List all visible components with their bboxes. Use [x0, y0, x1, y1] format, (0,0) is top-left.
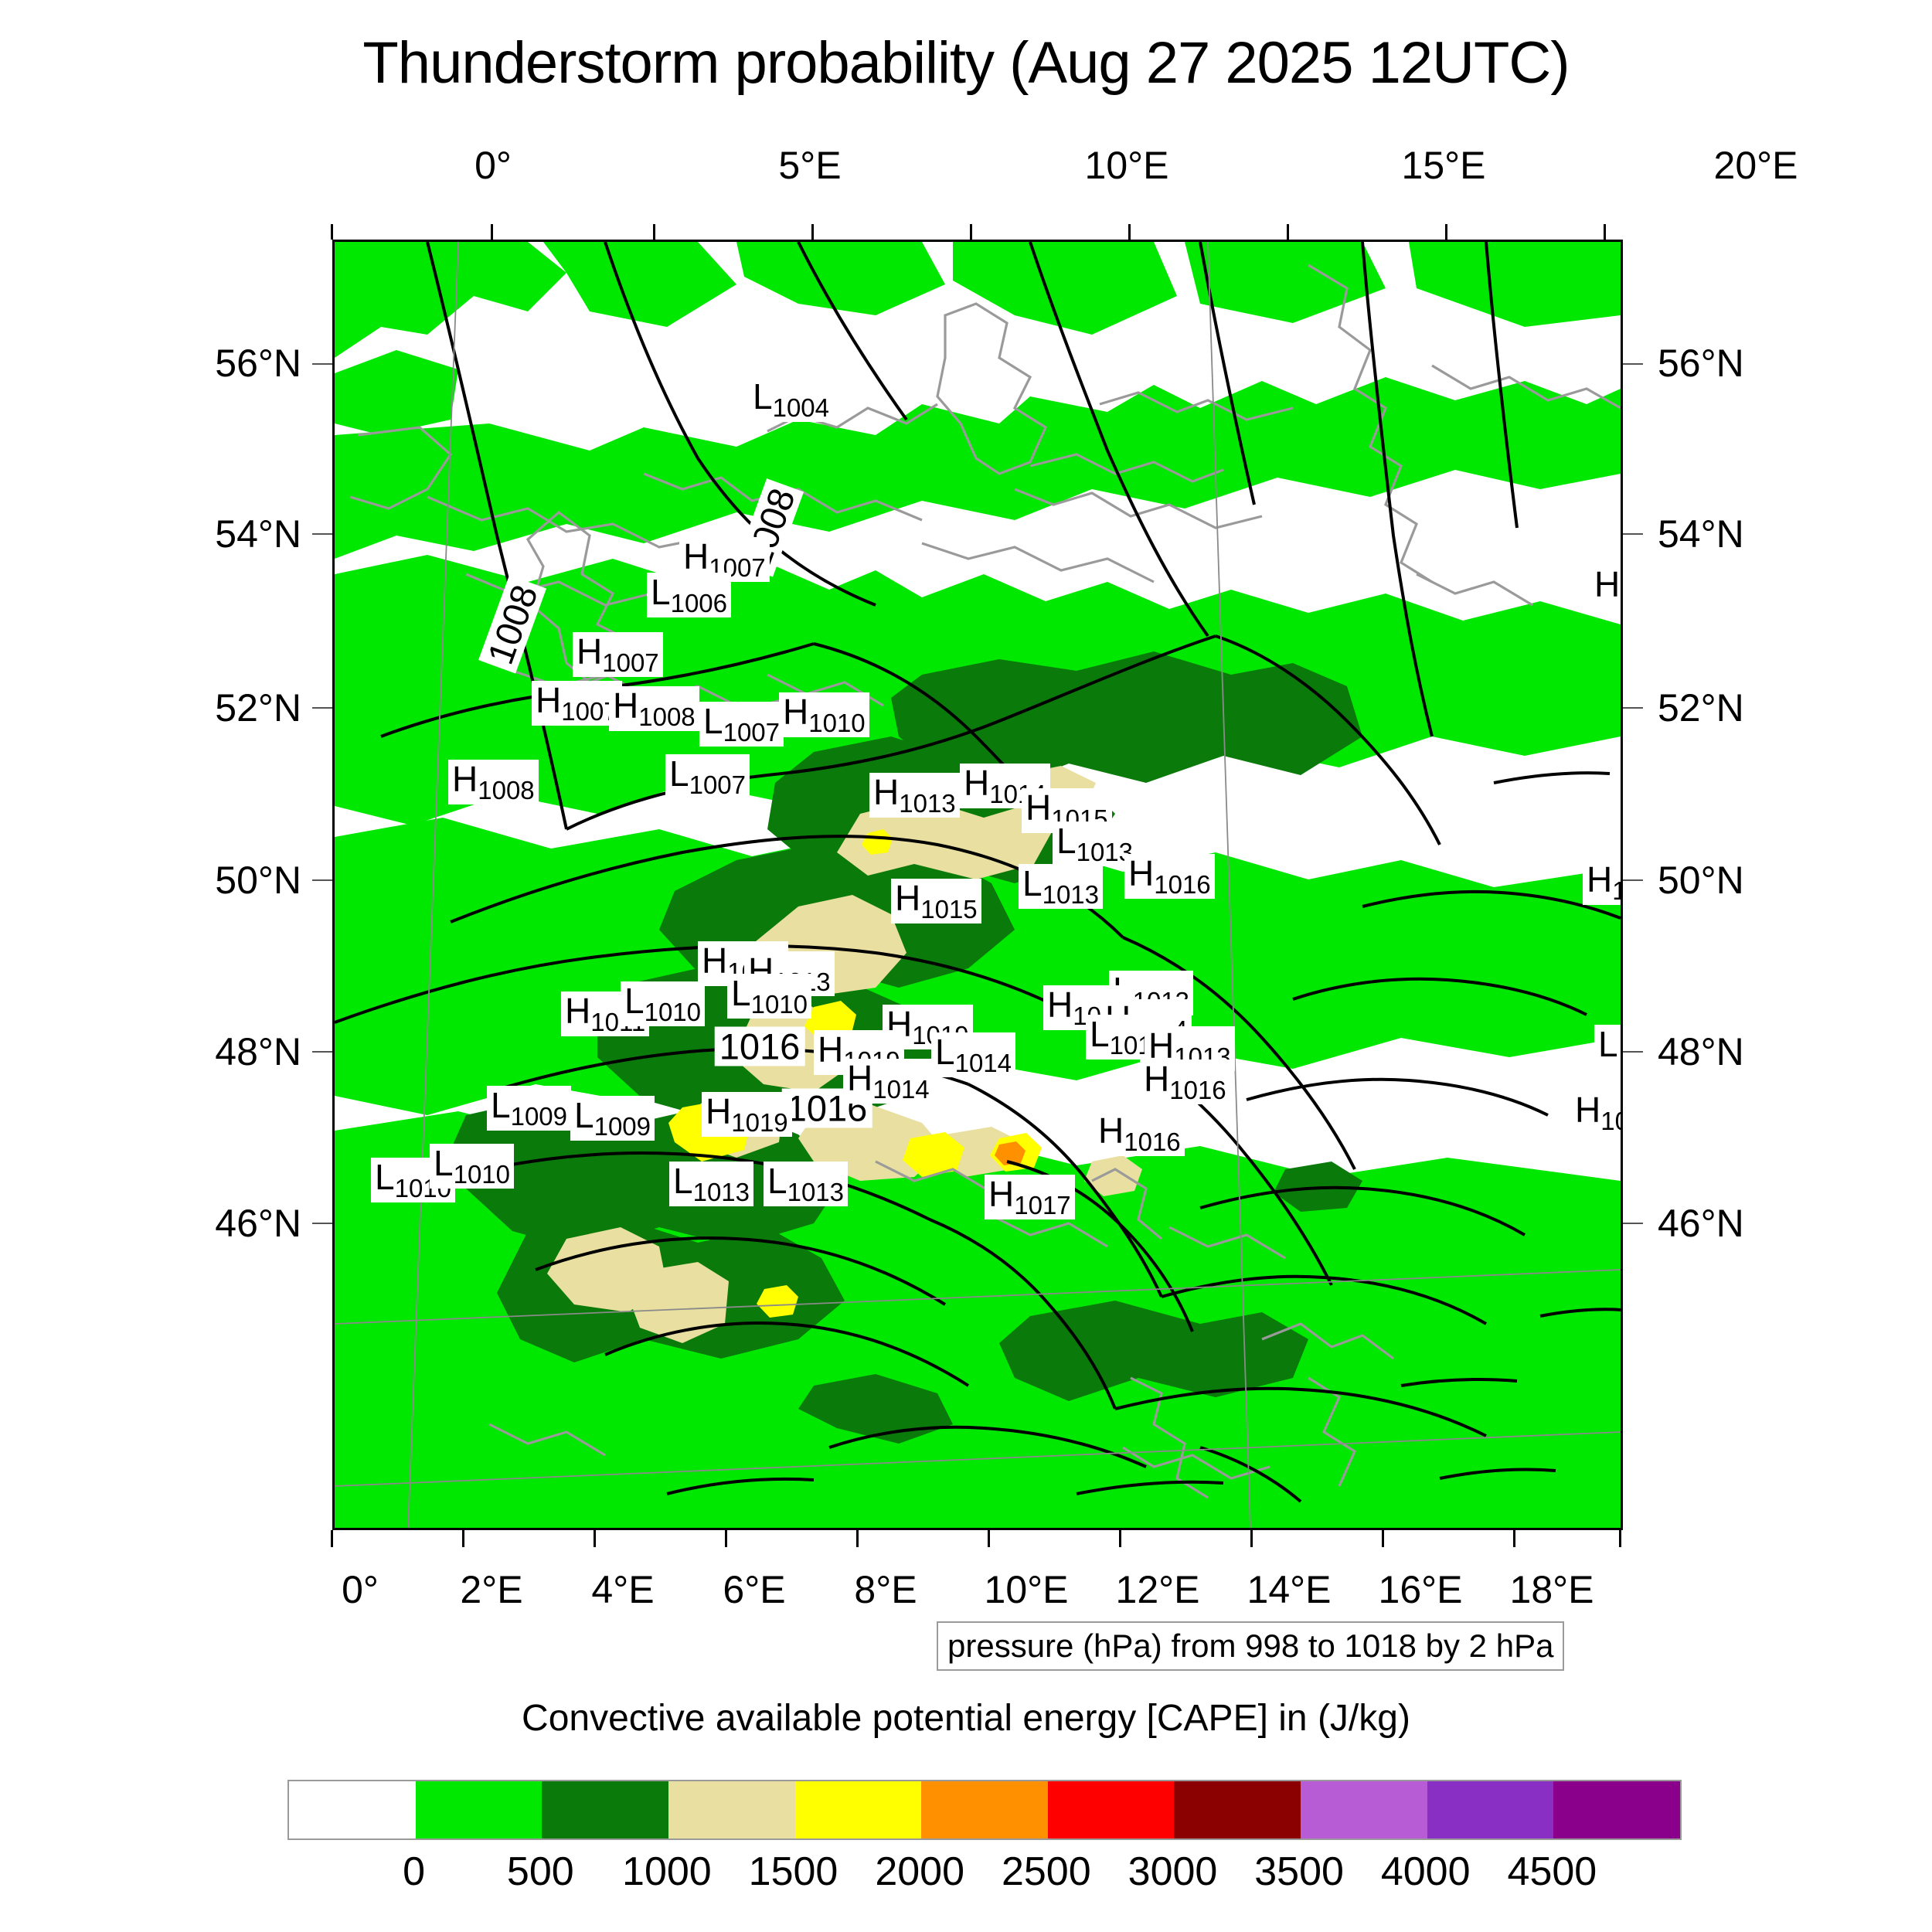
- axis-tick-bottom: [988, 1530, 990, 1547]
- colorbar-segment-3: [668, 1781, 795, 1838]
- pressure-marker-H-1008: H1008: [609, 686, 699, 731]
- pressure-marker-L-1009: L1009: [570, 1096, 655, 1141]
- axis-tick-bottom: [725, 1530, 727, 1547]
- axis-label-lat-left: 46°N: [193, 1201, 301, 1246]
- axis-tick-bottom: [462, 1530, 464, 1547]
- axis-tick-top: [331, 224, 333, 240]
- axis-label-lat-left: 50°N: [193, 858, 301, 903]
- colorbar-segment-0: [289, 1781, 416, 1838]
- axis-tick-bottom: [1619, 1530, 1621, 1547]
- pressure-marker-H-1019: H1019: [702, 1092, 792, 1137]
- page-title: Thunderstorm probability (Aug 27 2025 12…: [0, 29, 1932, 97]
- axis-tick-bottom: [594, 1530, 596, 1547]
- colorbar-segment-5: [921, 1781, 1048, 1838]
- axis-tick-right: [1623, 533, 1643, 535]
- pressure-marker-H-1007: H1007: [573, 632, 663, 677]
- axis-tick-bottom: [1382, 1530, 1384, 1547]
- axis-label-lon-top: 0°: [474, 143, 512, 188]
- axis-tick-right: [1623, 707, 1643, 709]
- axis-tick-right: [1623, 363, 1643, 365]
- colorbar-tick-label: 500: [507, 1849, 574, 1895]
- map-plot: 1008 1008 1016 1016 L1004 H1007 L1006 H1…: [332, 240, 1623, 1530]
- colorbar-tick-label: 0: [403, 1849, 425, 1895]
- axis-label-lat-right: 46°N: [1658, 1201, 1744, 1246]
- axis-tick-top: [1445, 224, 1447, 240]
- pressure-marker-L-1013: L1013: [669, 1162, 753, 1206]
- axis-tick-bottom: [1250, 1530, 1253, 1547]
- colorbar-segment-8: [1301, 1781, 1427, 1838]
- pressure-marker-L-1009: L1009: [487, 1086, 571, 1131]
- axis-label-lon-bottom: 10°E: [985, 1567, 1069, 1612]
- pressure-marker-H-1016: H1016: [1140, 1060, 1230, 1104]
- axis-label-lat-left: 56°N: [193, 341, 301, 386]
- pressure-marker-H-1017: H1017: [985, 1175, 1075, 1219]
- axis-label-lon-bottom: 18°E: [1510, 1567, 1594, 1612]
- map-frame: 1008 1008 1016 1016 L1004 H1007 L1006 H1…: [332, 240, 1623, 1530]
- axis-label-lat-left: 54°N: [193, 512, 301, 556]
- pressure-marker-H-1013: H1013: [869, 773, 960, 818]
- colorbar-segment-4: [795, 1781, 922, 1838]
- axis-tick-left: [312, 879, 332, 881]
- pressure-marker-L-1004: L1004: [749, 377, 833, 422]
- axis-label-lon-bottom: 4°E: [591, 1567, 654, 1612]
- axis-tick-left: [312, 1223, 332, 1224]
- axis-label-lon-top: 20°E: [1714, 143, 1798, 188]
- pressure-marker-L-1007: L1007: [665, 754, 750, 799]
- pressure-marker-L-1013: L1013: [1019, 864, 1103, 909]
- axis-label-lat-right: 48°N: [1658, 1029, 1744, 1074]
- pressure-marker-L-1010: L1010: [430, 1144, 514, 1189]
- axis-label-lat-right: 52°N: [1658, 685, 1744, 730]
- axis-label-lat-left: 48°N: [193, 1029, 301, 1074]
- colorbar-tick-label: 2000: [875, 1849, 964, 1895]
- axis-label-lon-bottom: 12°E: [1116, 1567, 1200, 1612]
- colorbar-segment-6: [1048, 1781, 1175, 1838]
- axis-tick-bottom: [1119, 1530, 1121, 1547]
- pressure-marker-H-1015: H1015: [891, 879, 981, 923]
- axis-tick-top: [1604, 224, 1606, 240]
- colorbar-segment-2: [542, 1781, 668, 1838]
- pressure-marker-L-1010: L1010: [621, 981, 705, 1026]
- colorbar-tick-label: 3000: [1128, 1849, 1218, 1895]
- pressure-marker-edge-H: H: [1590, 565, 1623, 604]
- axis-label-lon-bottom: 0°: [342, 1567, 379, 1612]
- axis-tick-top: [811, 224, 814, 240]
- axis-label-lon-top: 15°E: [1402, 143, 1486, 188]
- axis-label-lon-bottom: 6°E: [723, 1567, 785, 1612]
- pressure-marker-H-1016: H1016: [1124, 854, 1215, 899]
- axis-tick-left: [312, 533, 332, 535]
- axis-tick-top: [970, 224, 972, 240]
- axis-label-lat-right: 50°N: [1658, 858, 1744, 903]
- axis-label-lon-bottom: 2°E: [460, 1567, 522, 1612]
- colorbar: [287, 1780, 1682, 1840]
- axis-label-lon-bottom: 16°E: [1379, 1567, 1463, 1612]
- axis-label-lat-left: 52°N: [193, 685, 301, 730]
- axis-tick-right: [1623, 879, 1643, 881]
- axis-label-lon-bottom: 8°E: [854, 1567, 917, 1612]
- pressure-marker-edge-H: H10: [1583, 860, 1623, 905]
- axis-tick-bottom: [1513, 1530, 1515, 1547]
- pressure-legend: pressure (hPa) from 998 to 1018 by 2 hPa: [937, 1621, 1564, 1671]
- pressure-marker-H-1014: H1014: [843, 1059, 934, 1104]
- axis-tick-left: [312, 363, 332, 365]
- colorbar-tick-label: 3500: [1254, 1849, 1344, 1895]
- colorbar-ticks: 0 500 1000 1500 2000 2500 3000 3500 4000…: [287, 1849, 1679, 1895]
- colorbar-caption: Convective available potential energy [C…: [0, 1697, 1932, 1740]
- colorbar-tick-label: 2500: [1002, 1849, 1091, 1895]
- axis-label-lon-top: 10°E: [1085, 143, 1169, 188]
- axis-tick-right: [1623, 1051, 1643, 1053]
- pressure-marker-L-1013: L1013: [764, 1162, 848, 1206]
- colorbar-tick-label: 1000: [622, 1849, 712, 1895]
- colorbar-tick-label: 1500: [749, 1849, 838, 1895]
- pressure-marker-L-1006: L1006: [647, 573, 731, 617]
- axis-tick-top: [1287, 224, 1289, 240]
- axis-tick-left: [312, 707, 332, 709]
- axis-label-lon-bottom: 14°E: [1247, 1567, 1332, 1612]
- pressure-marker-H-1010: H1010: [779, 692, 869, 737]
- axis-tick-top: [1128, 224, 1131, 240]
- axis-tick-bottom: [331, 1530, 333, 1547]
- pressure-marker-H-1016: H1016: [1094, 1111, 1185, 1156]
- colorbar-segment-1: [416, 1781, 543, 1838]
- pressure-marker-L-1007: L1007: [699, 702, 784, 747]
- pressure-marker-L-1010: L1010: [727, 974, 811, 1019]
- colorbar-tick-label: 4500: [1508, 1849, 1597, 1895]
- axis-tick-top: [653, 224, 655, 240]
- pressure-marker-edge-L: L: [1594, 1025, 1622, 1063]
- pressure-marker-L-1014: L1014: [931, 1032, 1015, 1077]
- axis-tick-top: [491, 224, 493, 240]
- colorbar-segment-9: [1427, 1781, 1554, 1838]
- axis-tick-right: [1623, 1223, 1643, 1224]
- pressure-marker-edge-H: H101: [1571, 1090, 1623, 1135]
- colorbar-segment-7: [1174, 1781, 1301, 1838]
- colorbar-segment-10: [1553, 1781, 1680, 1838]
- axis-tick-left: [312, 1051, 332, 1053]
- colorbar-tick-label: 4000: [1381, 1849, 1471, 1895]
- axis-tick-bottom: [856, 1530, 859, 1547]
- axis-label-lat-right: 54°N: [1658, 512, 1744, 556]
- contour-label: 1016: [715, 1027, 805, 1066]
- pressure-marker-H-1008: H1008: [448, 760, 539, 804]
- axis-label-lon-top: 5°E: [778, 143, 841, 188]
- axis-label-lat-right: 56°N: [1658, 341, 1744, 386]
